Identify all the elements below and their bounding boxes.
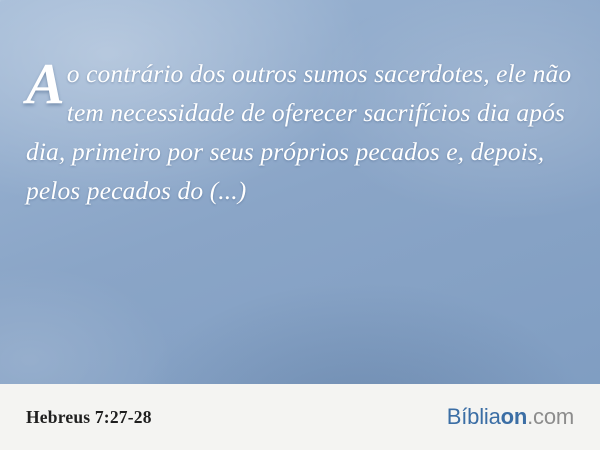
card-footer: Hebreus 7:27-28 Bíbliaon.com bbox=[0, 384, 600, 450]
verse-reference: Hebreus 7:27-28 bbox=[26, 407, 152, 428]
brand-part-on: on bbox=[501, 404, 527, 430]
verse-dropcap: A bbox=[26, 60, 65, 108]
verse-card: Ao contrário dos outros sumos sacerdotes… bbox=[0, 0, 600, 450]
verse-text-block: Ao contrário dos outros sumos sacerdotes… bbox=[26, 54, 574, 210]
brand-part-biblia: Bíblia bbox=[447, 404, 501, 430]
bibliaon-logo[interactable]: Bíbliaon.com bbox=[447, 404, 574, 430]
verse-body: o contrário dos outros sumos sacerdotes,… bbox=[26, 59, 571, 205]
brand-part-com: .com bbox=[527, 404, 574, 430]
